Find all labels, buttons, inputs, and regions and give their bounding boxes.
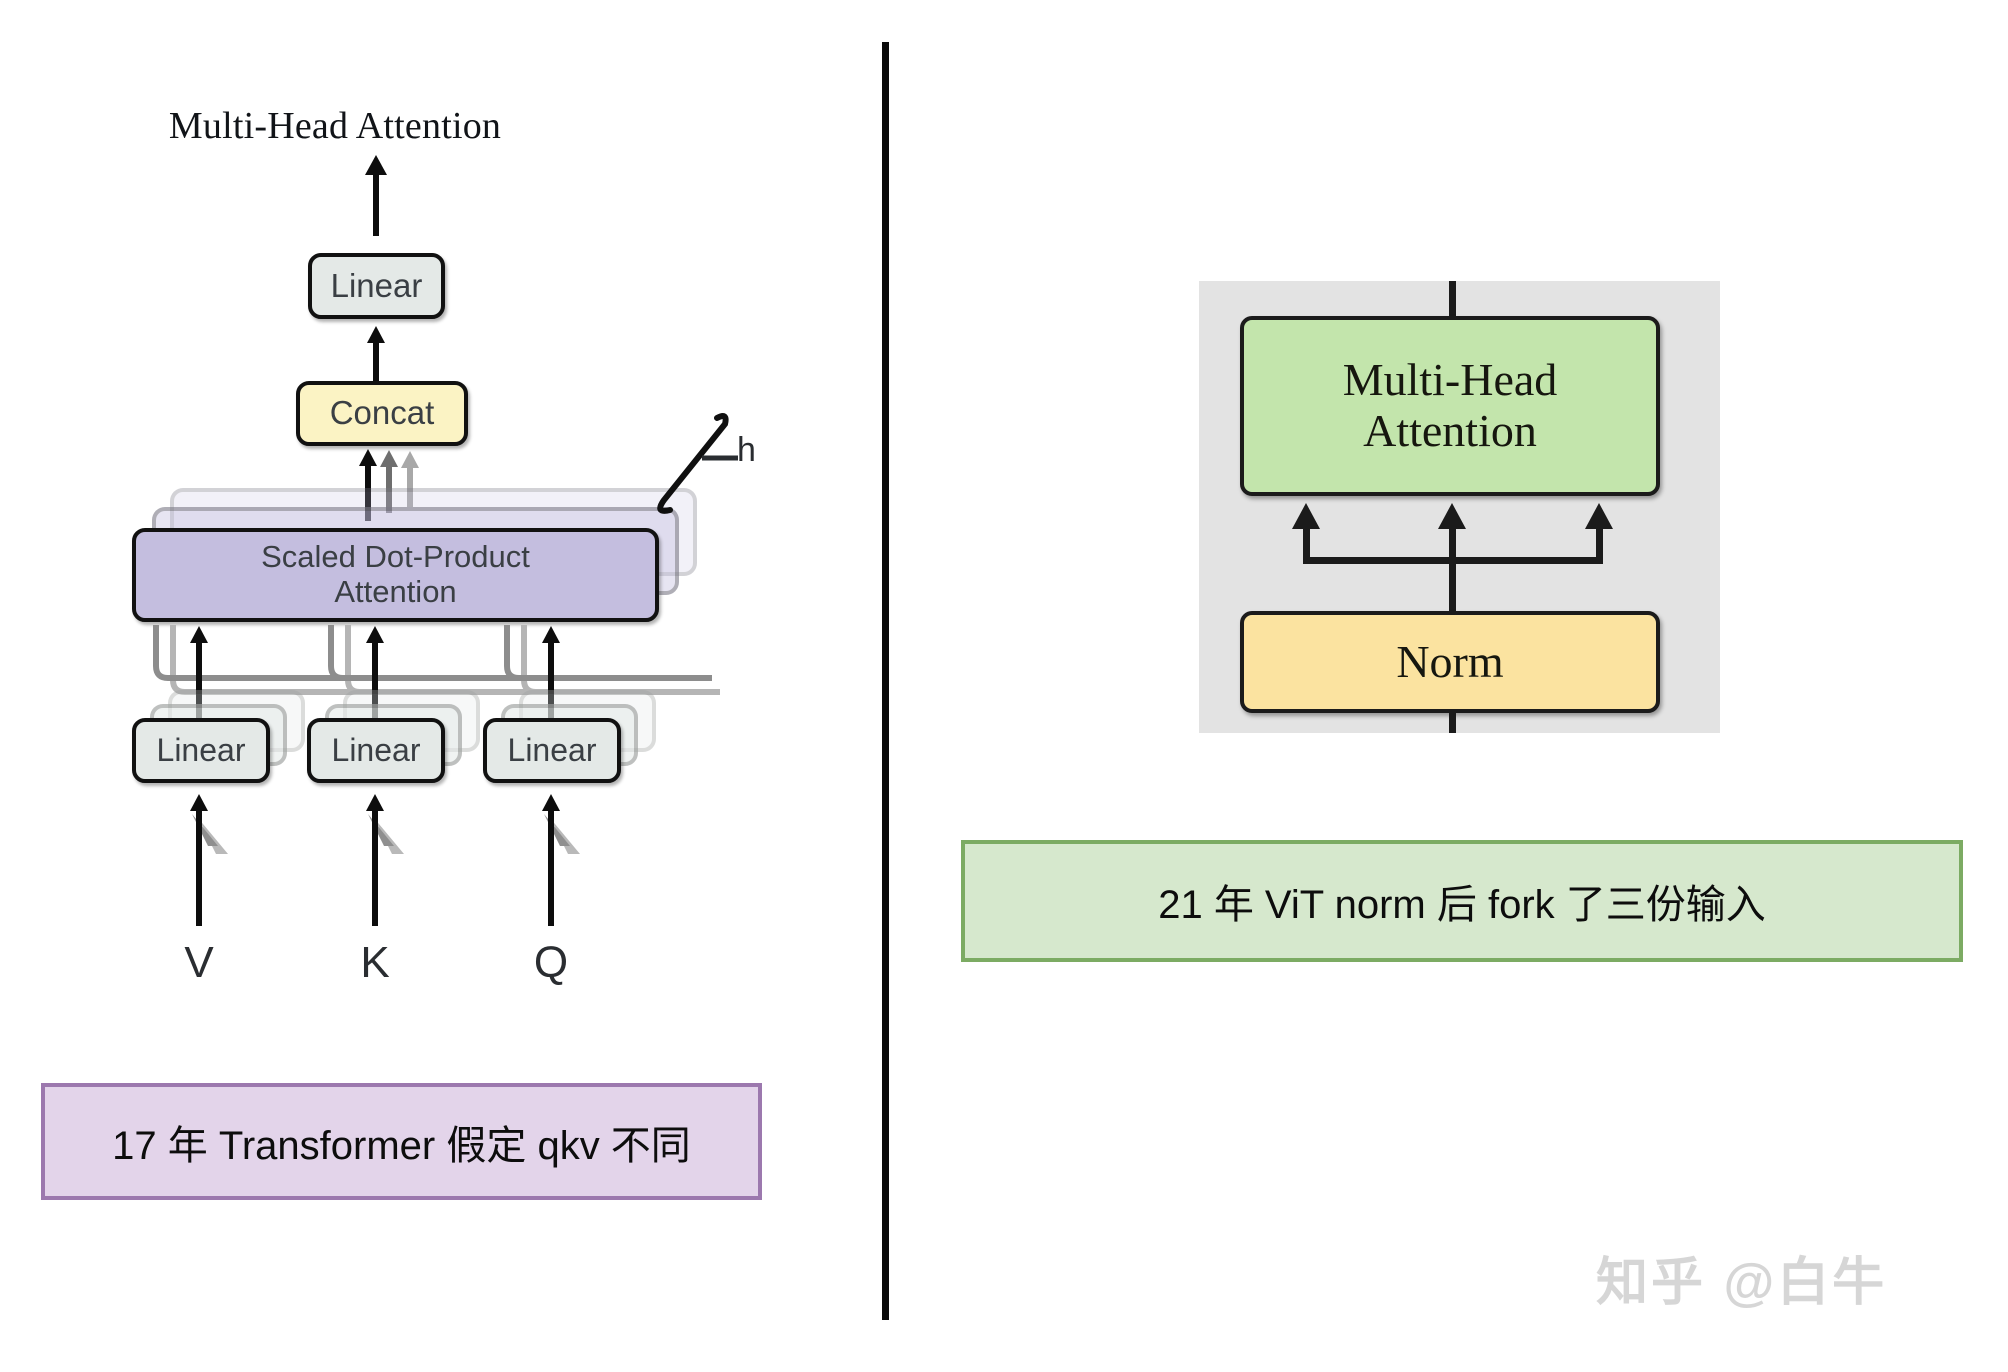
vit-norm-label: Norm <box>1396 637 1503 688</box>
v-input-shaft <box>196 808 202 926</box>
node-concat[interactable]: Concat <box>296 381 468 446</box>
node-linear-top[interactable]: Linear <box>308 253 445 319</box>
node-linear-k-label: Linear <box>332 733 421 769</box>
head-arrow-2-head-icon <box>380 450 398 467</box>
panel-divider <box>882 42 889 1320</box>
vit-fork-arrow-right-icon <box>1585 503 1613 529</box>
vit-fork-arrow-left-icon <box>1292 503 1320 529</box>
output-arrow-head-icon <box>365 155 387 175</box>
zhihu-watermark: 知乎 @白牛 <box>1596 1240 1887 1315</box>
q-input-arrow-icon <box>542 794 560 811</box>
k-input-shaft <box>372 808 378 926</box>
node-linear-q-label: Linear <box>508 733 597 769</box>
caption-transformer: 17 年 Transformer 假定 qkv 不同 <box>41 1083 762 1200</box>
vit-fork-stem <box>1449 557 1456 613</box>
attention-label-line1: Scaled Dot-Product <box>261 540 530 575</box>
k-linear-to-attention-arrow-icon <box>366 626 384 643</box>
input-arrow-tails <box>120 780 740 920</box>
k-input-arrow-icon <box>366 794 384 811</box>
node-concat-label: Concat <box>330 395 435 432</box>
vit-mha-label-line2: Attention <box>1363 406 1537 457</box>
vit-fork-left-riser <box>1303 529 1310 561</box>
vit-mha-label-line1: Multi-Head <box>1343 355 1558 406</box>
node-linear-v-label: Linear <box>157 733 246 769</box>
heads-bracket-icon <box>640 400 800 520</box>
vit-prenorm-figure: Multi-Head Attention Norm <box>1199 281 1720 733</box>
input-label-k: K <box>345 938 405 988</box>
output-arrow-shaft <box>373 170 379 236</box>
vit-fork-right-riser <box>1596 529 1603 561</box>
mha-figure-title: Multi-Head Attention <box>155 104 515 148</box>
vit-fork-arrow-center-icon <box>1438 503 1466 529</box>
head-arrow-1-head-icon <box>359 449 377 466</box>
transformer-mha-figure: Multi-Head Attention Linear Concat Scale… <box>0 0 882 1030</box>
v-input-arrow-icon <box>190 794 208 811</box>
head-arrow-3-head-icon <box>401 451 419 468</box>
input-label-v: V <box>169 938 229 988</box>
input-label-q: Q <box>521 938 581 988</box>
q-input-shaft <box>548 808 554 926</box>
concat-to-linear-shaft <box>373 340 379 387</box>
concat-to-linear-arrow-icon <box>367 326 385 343</box>
vit-input-line <box>1449 709 1456 733</box>
node-linear-k[interactable]: Linear <box>307 718 445 783</box>
node-linear-top-label: Linear <box>331 268 423 305</box>
node-linear-q[interactable]: Linear <box>483 718 621 783</box>
heads-count-label: h <box>737 431 756 470</box>
vit-fork-center-riser <box>1449 529 1456 561</box>
caption-vit: 21 年 ViT norm 后 fork 了三份输入 <box>961 840 1963 962</box>
v-linear-to-attention-arrow-icon <box>190 626 208 643</box>
node-vit-multi-head-attention[interactable]: Multi-Head Attention <box>1240 316 1660 496</box>
node-linear-v[interactable]: Linear <box>132 718 270 783</box>
vit-output-line <box>1449 281 1456 317</box>
q-linear-to-attention-arrow-icon <box>542 626 560 643</box>
node-vit-norm[interactable]: Norm <box>1240 611 1660 713</box>
